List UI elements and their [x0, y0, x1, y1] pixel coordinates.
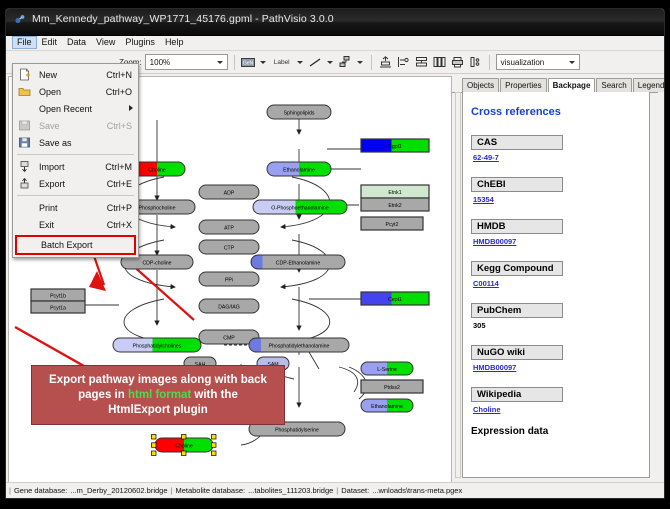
align-left-tool-icon[interactable] — [396, 55, 411, 70]
xref-value-nugo[interactable]: HMDB00097 — [473, 363, 649, 372]
backpage-scrollbar[interactable] — [455, 92, 461, 478]
svg-text:Ptdss2: Ptdss2 — [384, 385, 400, 391]
callout-line2-pre: pages in — [78, 389, 128, 401]
window-title: Mm_Kennedy_pathway_WP1771_45176.gpml - P… — [32, 13, 334, 25]
legend-tool-icon[interactable] — [468, 55, 483, 70]
xref-value-kegg[interactable]: C00114 — [473, 279, 649, 288]
svg-text:Phosphatidylcholines: Phosphatidylcholines — [133, 344, 182, 350]
menu-item-save-label: Save — [39, 121, 60, 131]
line-dropdown-arrow[interactable] — [326, 55, 335, 69]
xref-value-wikipedia[interactable]: Choline — [473, 405, 649, 414]
zoom-value: 100% — [150, 58, 170, 67]
svg-text:Pcyt1a: Pcyt1a — [50, 305, 66, 311]
menu-data[interactable]: Data — [62, 36, 91, 49]
menu-item-save: Save Ctrl+S — [13, 117, 138, 134]
svg-text:GeN: GeN — [243, 60, 254, 66]
xref-value-chebi[interactable]: 15354 — [473, 195, 649, 204]
menu-help[interactable]: Help — [160, 36, 189, 49]
menu-item-import-accel: Ctrl+M — [105, 162, 132, 172]
cross-references-heading: Cross references — [471, 106, 649, 118]
side-panel-tabs: Objects Properties Backpage Search Legen… — [452, 76, 658, 93]
svg-text:Phosphocholine: Phosphocholine — [139, 206, 176, 212]
svg-text:Sgpl1: Sgpl1 — [388, 144, 401, 150]
svg-text:ATP: ATP — [224, 226, 234, 232]
menu-separator — [17, 195, 134, 196]
menu-item-print-label: Print — [39, 203, 58, 213]
menu-view[interactable]: View — [91, 36, 120, 49]
xref-source-cas: CAS — [471, 135, 563, 150]
menu-item-import[interactable]: Import Ctrl+M — [13, 158, 138, 175]
callout-highlight: html format — [128, 389, 191, 401]
toolbar-separator — [371, 55, 372, 70]
menu-item-open-accel: Ctrl+O — [106, 87, 132, 97]
xref-source-kegg: Kegg Compound — [471, 261, 563, 276]
svg-text:Sphingolipids: Sphingolipids — [284, 111, 315, 117]
statusbar: | Gene database: ...m_Derby_20120602.bri… — [6, 482, 664, 498]
label-dropdown-arrow[interactable] — [296, 55, 305, 69]
menu-item-open-recent[interactable]: Open Recent — [13, 100, 138, 117]
svg-text:Pcyt1b: Pcyt1b — [50, 293, 66, 299]
menu-item-open-recent-label: Open Recent — [39, 104, 92, 114]
label-tool-text: Label — [274, 59, 290, 66]
common-width-tool-icon[interactable] — [432, 55, 447, 70]
menu-item-batch-export-label: Batch Export — [41, 240, 93, 250]
new-document-icon — [18, 68, 31, 81]
svg-text:CMP: CMP — [223, 336, 235, 342]
menu-item-export[interactable]: Export Ctrl+E — [13, 175, 138, 192]
menu-item-open[interactable]: Open Ctrl+O — [13, 83, 138, 100]
svg-text:Ethanolamine: Ethanolamine — [371, 404, 403, 410]
tab-properties[interactable]: Properties — [500, 78, 546, 92]
xref-link-chebi[interactable]: 15354 — [473, 195, 494, 204]
callout-line2-post: with the — [191, 389, 238, 401]
xref-link-wikipedia[interactable]: Choline — [473, 405, 501, 414]
svg-text:ADP: ADP — [224, 191, 235, 197]
menu-item-batch-export[interactable]: Batch Export — [15, 235, 136, 255]
visualization-combobox[interactable]: visualization — [496, 54, 580, 70]
gene-database-value: ...m_Derby_20120602.bridge — [70, 486, 167, 495]
svg-text:CDP-choline: CDP-choline — [142, 261, 171, 267]
menu-item-exit[interactable]: Exit Ctrl+X — [13, 216, 138, 233]
xref-source-nugo: NuGO wiki — [471, 345, 563, 360]
xref-value-cas[interactable]: 62-49-7 — [473, 153, 649, 162]
zoom-combobox[interactable]: 100% — [145, 54, 228, 70]
side-panel: Objects Properties Backpage Search Legen… — [452, 76, 658, 484]
menu-item-save-as[interactable]: Save as — [13, 134, 138, 151]
open-folder-icon — [18, 85, 31, 98]
menu-item-new-label: New — [39, 70, 57, 80]
svg-text:PPi: PPi — [225, 278, 233, 284]
menu-edit[interactable]: Edit — [37, 36, 63, 49]
visualization-value: visualization — [501, 58, 545, 67]
tab-objects[interactable]: Objects — [462, 78, 499, 92]
window-titlebar: Mm_Kennedy_pathway_WP1771_45176.gpml - P… — [6, 9, 664, 36]
menu-item-export-label: Export — [39, 179, 65, 189]
status-sep: | — [336, 486, 338, 495]
xref-link-cas[interactable]: 62-49-7 — [473, 153, 499, 162]
datanode-tool-icon[interactable]: GeN — [241, 55, 256, 70]
metabolite-database-value: ...tabolites_111203.bridge — [248, 486, 333, 495]
svg-text:Etnk2: Etnk2 — [388, 203, 401, 209]
menu-item-exit-label: Exit — [39, 220, 54, 230]
chevron-down-icon — [568, 58, 577, 67]
menu-item-open-label: Open — [39, 87, 61, 97]
line-tool-icon[interactable] — [308, 55, 323, 70]
xref-link-kegg[interactable]: C00114 — [473, 279, 499, 288]
menu-item-new-accel: Ctrl+N — [106, 70, 132, 80]
screenshot-root: Mm_Kennedy_pathway_WP1771_45176.gpml - P… — [0, 0, 670, 509]
tab-search[interactable]: Search — [596, 78, 631, 92]
xref-value-pubchem: 305 — [473, 321, 649, 330]
menu-file[interactable]: File — [12, 36, 37, 49]
menu-item-new[interactable]: New Ctrl+N — [13, 66, 138, 83]
dataset-label: Dataset: — [341, 486, 369, 495]
tab-legend[interactable]: Legend — [633, 78, 665, 92]
menu-item-save-accel: Ctrl+S — [107, 121, 132, 131]
save-as-icon — [18, 136, 31, 149]
menu-plugins[interactable]: Plugins — [120, 36, 160, 49]
svg-text:CDP-Ethanolamine: CDP-Ethanolamine — [276, 261, 321, 267]
callout-line1: Export pathway images along with back — [49, 374, 267, 386]
dataset-value: ...wnloads\trans-meta.pgex — [372, 486, 462, 495]
status-sep: | — [9, 486, 11, 495]
toolbar-separator — [489, 55, 490, 70]
xref-value-hmdb[interactable]: HMDB00097 — [473, 237, 649, 246]
submenu-arrow-icon — [129, 105, 133, 111]
menu-item-import-label: Import — [39, 162, 65, 172]
metabolite-database-label: Metabolite database: — [175, 486, 245, 495]
datanode-dropdown-arrow[interactable] — [259, 55, 268, 69]
svg-text:Phosphatidylserine: Phosphatidylserine — [275, 428, 319, 434]
menubar: File Edit Data View Plugins Help — [6, 36, 664, 51]
toolbar-separator — [234, 55, 235, 70]
label-tool-icon[interactable]: Label — [271, 55, 293, 70]
svg-text:Phosphatidylethanolamine: Phosphatidylethanolamine — [269, 344, 330, 350]
tab-backpage[interactable]: Backpage — [548, 78, 596, 93]
xref-link-hmdb[interactable]: HMDB00097 — [473, 237, 516, 246]
svg-text:Pcyt2: Pcyt2 — [386, 222, 399, 228]
status-sep: | — [171, 486, 173, 495]
pathvisio-app-icon — [14, 13, 26, 25]
xref-source-wikipedia: Wikipedia — [471, 387, 563, 402]
svg-text:Choline: Choline — [148, 168, 166, 174]
svg-text:O-Phosphoethanolamine: O-Phosphoethanolamine — [271, 206, 329, 212]
import-icon — [18, 160, 31, 173]
gene-database-label: Gene database: — [14, 486, 67, 495]
chevron-down-icon — [216, 58, 225, 67]
svg-text:DAG/IAG: DAG/IAG — [218, 305, 240, 311]
xref-source-pubchem: PubChem — [471, 303, 563, 318]
menu-item-print-accel: Ctrl+P — [107, 203, 132, 213]
xref-link-nugo[interactable]: HMDB00097 — [473, 363, 516, 372]
annotation-callout: Export pathway images along with back pa… — [31, 365, 285, 425]
expression-data-heading: Expression data — [471, 426, 649, 437]
svg-text:Ethanolamine: Ethanolamine — [283, 168, 315, 174]
menu-separator — [17, 154, 134, 155]
menu-item-print[interactable]: Print Ctrl+P — [13, 199, 138, 216]
interaction-tool-icon[interactable] — [338, 55, 353, 70]
stack-center-tool-icon[interactable] — [414, 55, 429, 70]
interaction-dropdown-arrow[interactable] — [356, 55, 365, 69]
svg-text:Choline: Choline — [175, 444, 193, 450]
svg-text:L-Serine: L-Serine — [377, 367, 397, 373]
pathvisio-window: Mm_Kennedy_pathway_WP1771_45176.gpml - P… — [5, 8, 665, 499]
print-tool-icon[interactable] — [450, 55, 465, 70]
callout-line3: HtmlExport plugin — [108, 404, 208, 416]
backpage-content: Cross references CAS 62-49-7 ChEBI 15354… — [462, 92, 650, 478]
svg-text:Etnk1: Etnk1 — [388, 190, 401, 196]
file-menu-dropdown[interactable]: New Ctrl+N Open Ctrl+O Open Recent — [12, 63, 139, 258]
svg-text:CTP: CTP — [224, 246, 235, 252]
menu-item-exit-accel: Ctrl+X — [107, 220, 132, 230]
svg-text:Cept1: Cept1 — [388, 297, 402, 303]
save-disk-icon — [18, 119, 31, 132]
align-top-tool-icon[interactable] — [378, 55, 393, 70]
menu-item-export-accel: Ctrl+E — [107, 179, 132, 189]
xref-source-hmdb: HMDB — [471, 219, 563, 234]
export-icon — [18, 177, 31, 190]
xref-source-chebi: ChEBI — [471, 177, 563, 192]
window-client-area: File Edit Data View Plugins Help Zoom: 1… — [6, 36, 664, 498]
menu-item-save-as-label: Save as — [39, 138, 72, 148]
